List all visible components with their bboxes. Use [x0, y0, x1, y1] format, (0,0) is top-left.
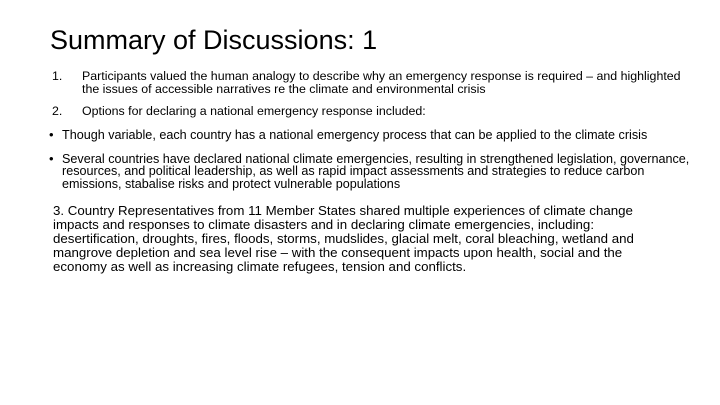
- numbered-item-2: 2. Options for declaring a national emer…: [44, 105, 692, 118]
- list-number-marker: 1.: [52, 70, 62, 83]
- bullet-item-1-text: Though variable, each country has a nati…: [62, 129, 692, 142]
- numbered-item-1-text: Participants valued the human analogy to…: [82, 70, 692, 95]
- bullet-item-2-text: Several countries have declared national…: [62, 153, 692, 191]
- bullet-item-2: • Several countries have declared nation…: [44, 153, 692, 191]
- slide-title: Summary of Discussions: 1: [50, 24, 690, 56]
- bullet-dot-icon: •: [49, 128, 54, 142]
- presentation-slide: Summary of Discussions: 1 1. Participant…: [0, 0, 720, 405]
- slide-body: 1. Participants valued the human analogy…: [44, 70, 692, 274]
- bullet-item-1: • Though variable, each country has a na…: [44, 129, 692, 142]
- bullet-dot-icon: •: [49, 152, 54, 166]
- numbered-item-1: 1. Participants valued the human analogy…: [44, 70, 692, 95]
- closing-paragraph: 3. Country Representatives from 11 Membe…: [44, 204, 692, 274]
- list-number-marker: 2.: [52, 105, 62, 118]
- numbered-item-2-text: Options for declaring a national emergen…: [82, 105, 692, 118]
